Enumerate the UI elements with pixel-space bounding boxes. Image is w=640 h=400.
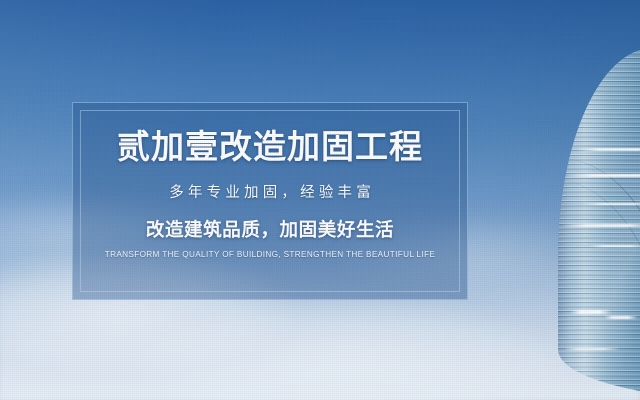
glass-sheen (558, 48, 640, 400)
tower-body (558, 48, 640, 400)
english-caption: TRANSFORM THE QUALITY OF BUILDING, STREN… (105, 250, 436, 259)
skyscraper-image (540, 48, 640, 400)
subtitle: 多年专业加固，经验丰富 (165, 181, 375, 202)
panel-content: 贰加壹改造加固工程 多年专业加固，经验丰富 改造建筑品质，加固美好生活 TRAN… (73, 103, 467, 299)
text-panel: 贰加壹改造加固工程 多年专业加固，经验丰富 改造建筑品质，加固美好生活 TRAN… (72, 102, 468, 300)
page-title: 贰加壹改造加固工程 (117, 130, 423, 164)
hero-banner: 贰加壹改造加固工程 多年专业加固，经验丰富 改造建筑品质，加固美好生活 TRAN… (0, 0, 640, 400)
tagline: 改造建筑品质，加固美好生活 (146, 216, 394, 242)
